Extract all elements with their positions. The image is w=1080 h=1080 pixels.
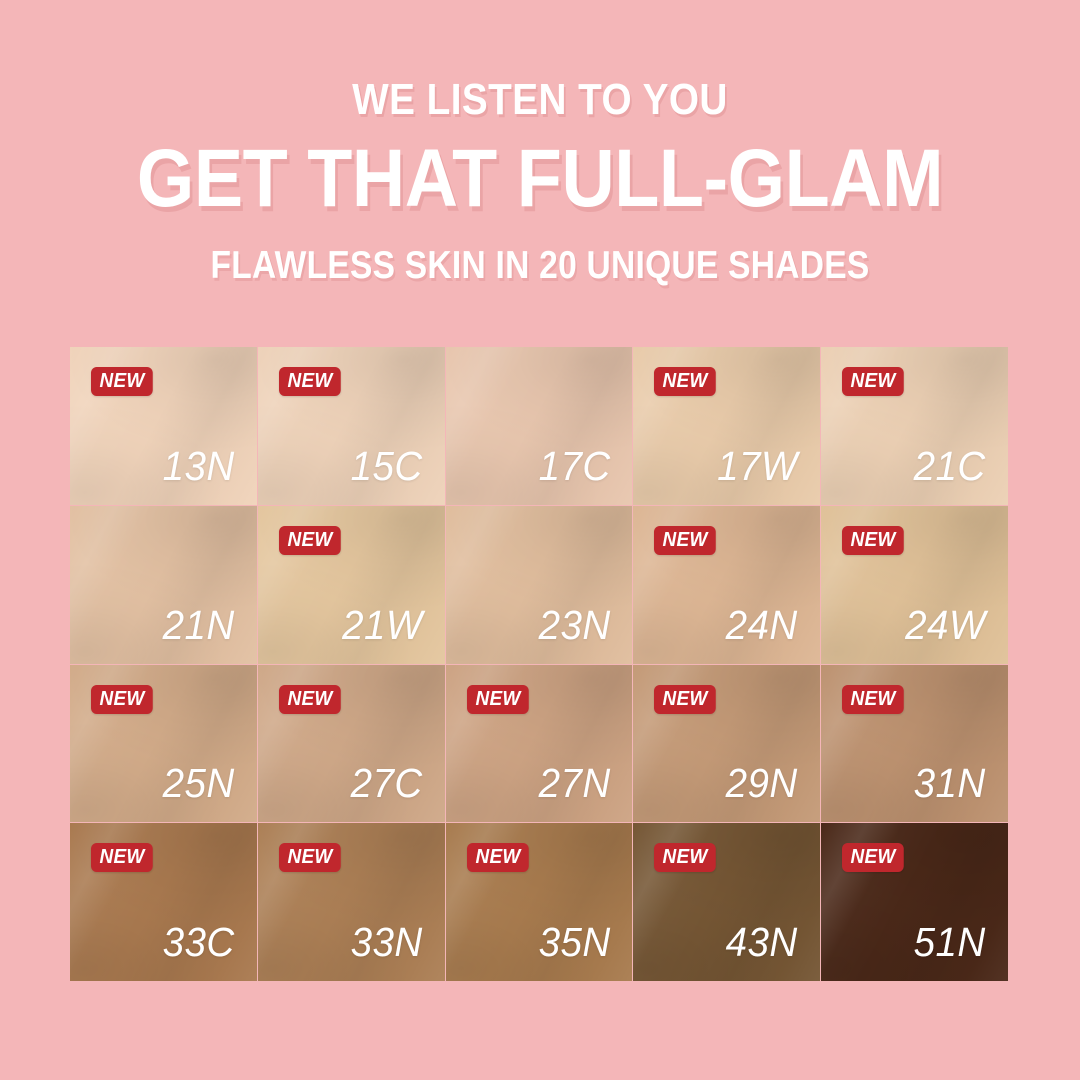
shade-swatch[interactable]: NEW43N	[633, 823, 820, 981]
shade-swatch[interactable]: NEW33C	[70, 823, 257, 981]
shade-swatch[interactable]: NEW51N	[821, 823, 1008, 981]
shade-name-label: 17W	[718, 446, 799, 487]
shade-name-label: 31N	[914, 763, 986, 804]
new-badge: NEW	[279, 367, 341, 396]
new-badge: NEW	[279, 685, 341, 714]
shade-name-label: 24W	[905, 605, 986, 646]
shade-name-label: 33N	[350, 922, 422, 963]
shade-swatch[interactable]: NEW24W	[821, 506, 1008, 664]
shade-swatch[interactable]: NEW27C	[258, 665, 445, 823]
shade-name-label: 21W	[342, 605, 423, 646]
shade-swatch[interactable]: NEW17W	[633, 347, 820, 505]
shade-swatch[interactable]: NEW35N	[446, 823, 633, 981]
shade-swatch[interactable]: 21N	[70, 506, 257, 664]
new-badge: NEW	[654, 843, 716, 872]
shade-name-label: 27C	[350, 763, 422, 804]
shade-name-label: 17C	[538, 446, 610, 487]
new-badge: NEW	[842, 367, 904, 396]
shade-name-label: 21C	[914, 446, 986, 487]
shade-swatch[interactable]: 17C	[446, 347, 633, 505]
promo-subline: FLAWLESS SKIN IN 20 UNIQUE SHADES	[76, 246, 1005, 285]
shade-range-promo-page: WE LISTEN TO YOU GET THAT FULL-GLAM FLAW…	[0, 0, 1080, 1080]
shade-swatch[interactable]: NEW27N	[446, 665, 633, 823]
shade-name-label: 23N	[538, 605, 610, 646]
shade-swatch[interactable]: NEW25N	[70, 665, 257, 823]
new-badge: NEW	[467, 843, 529, 872]
shade-swatch[interactable]: NEW33N	[258, 823, 445, 981]
shade-name-label: 25N	[163, 763, 235, 804]
shade-name-label: 15C	[350, 446, 422, 487]
shade-name-label: 13N	[163, 446, 235, 487]
shade-swatch[interactable]: NEW21C	[821, 347, 1008, 505]
new-badge: NEW	[91, 685, 153, 714]
shade-name-label: 21N	[163, 605, 235, 646]
shade-name-label: 33C	[163, 922, 235, 963]
new-badge: NEW	[654, 685, 716, 714]
new-badge: NEW	[654, 367, 716, 396]
new-badge: NEW	[842, 526, 904, 555]
new-badge: NEW	[654, 526, 716, 555]
shade-name-label: 43N	[726, 922, 798, 963]
shade-name-label: 29N	[726, 763, 798, 804]
new-badge: NEW	[279, 526, 341, 555]
shade-swatch[interactable]: NEW13N	[70, 347, 257, 505]
promo-header: WE LISTEN TO YOU GET THAT FULL-GLAM FLAW…	[0, 78, 1080, 285]
promo-headline: GET THAT FULL-GLAM	[54, 138, 1026, 220]
new-badge: NEW	[467, 685, 529, 714]
new-badge: NEW	[91, 843, 153, 872]
new-badge: NEW	[279, 843, 341, 872]
new-badge: NEW	[91, 367, 153, 396]
shade-name-label: 24N	[726, 605, 798, 646]
shade-swatch[interactable]: 23N	[446, 506, 633, 664]
shade-swatch[interactable]: NEW29N	[633, 665, 820, 823]
shade-name-label: 35N	[538, 922, 610, 963]
shade-swatch[interactable]: NEW31N	[821, 665, 1008, 823]
shade-name-label: 51N	[914, 922, 986, 963]
shade-swatch-grid: NEW13NNEW15C17CNEW17WNEW21C21NNEW21W23NN…	[70, 347, 1008, 981]
new-badge: NEW	[842, 685, 904, 714]
shade-swatch[interactable]: NEW24N	[633, 506, 820, 664]
shade-swatch[interactable]: NEW21W	[258, 506, 445, 664]
promo-kicker: WE LISTEN TO YOU	[65, 78, 1015, 122]
shade-name-label: 27N	[538, 763, 610, 804]
new-badge: NEW	[842, 843, 904, 872]
shade-swatch[interactable]: NEW15C	[258, 347, 445, 505]
